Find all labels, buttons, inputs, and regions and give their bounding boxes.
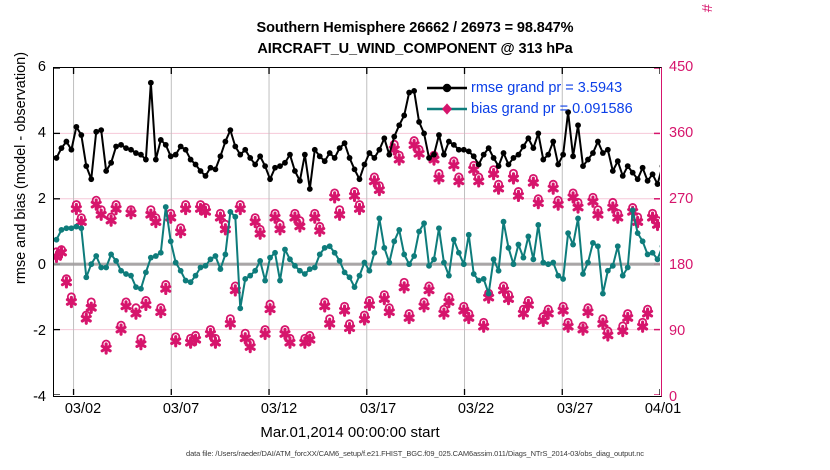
y-tick-left-m4: -4 [6, 389, 46, 405]
x-tick-0322: 03/22 [441, 401, 511, 417]
x-tick-0312: 03/12 [244, 401, 314, 417]
y-tick-right-360: 360 [669, 125, 715, 141]
data-file-caption: data file: /Users/raeder/DAI/ATM_forcXX/… [0, 449, 830, 458]
y-tick-right-90: 90 [669, 323, 715, 339]
chart-title-line1: Southern Hemisphere 26662 / 26973 = 98.8… [257, 20, 574, 36]
chart-legend: rmse grand pr = 3.5943 bias grand pr = 0… [425, 77, 633, 119]
bias-series [54, 204, 660, 311]
y-axis-title-left: rmse and bias (model - observation) [13, 3, 29, 333]
legend-label-rmse: rmse grand pr = 3.5943 [471, 80, 622, 96]
y-tick-right-270: 270 [669, 191, 715, 207]
x-tick-0307: 03/07 [146, 401, 216, 417]
x-tick-0317: 03/17 [343, 401, 413, 417]
chart-figure: Southern Hemisphere 26662 / 26973 = 98.8… [0, 0, 830, 470]
y-tick-right-180: 180 [669, 257, 715, 273]
legend-label-bias: bias grand pr = 0.091586 [471, 101, 633, 117]
x-axis-title: Mar.01,2014 00:00:00 start [0, 424, 700, 441]
y-axis-title-right: # of obs: o=possible; ∗=assimilated [700, 0, 716, 62]
x-tick-0401: 04/01 [628, 401, 698, 417]
bias-line-marker-icon [425, 100, 469, 118]
rmse-line-marker-icon [425, 79, 469, 97]
x-tick-0302: 03/02 [48, 401, 118, 417]
legend-item-rmse[interactable]: rmse grand pr = 3.5943 [425, 77, 633, 98]
x-tick-0327: 03/27 [540, 401, 610, 417]
legend-item-bias[interactable]: bias grand pr = 0.091586 [425, 98, 633, 119]
